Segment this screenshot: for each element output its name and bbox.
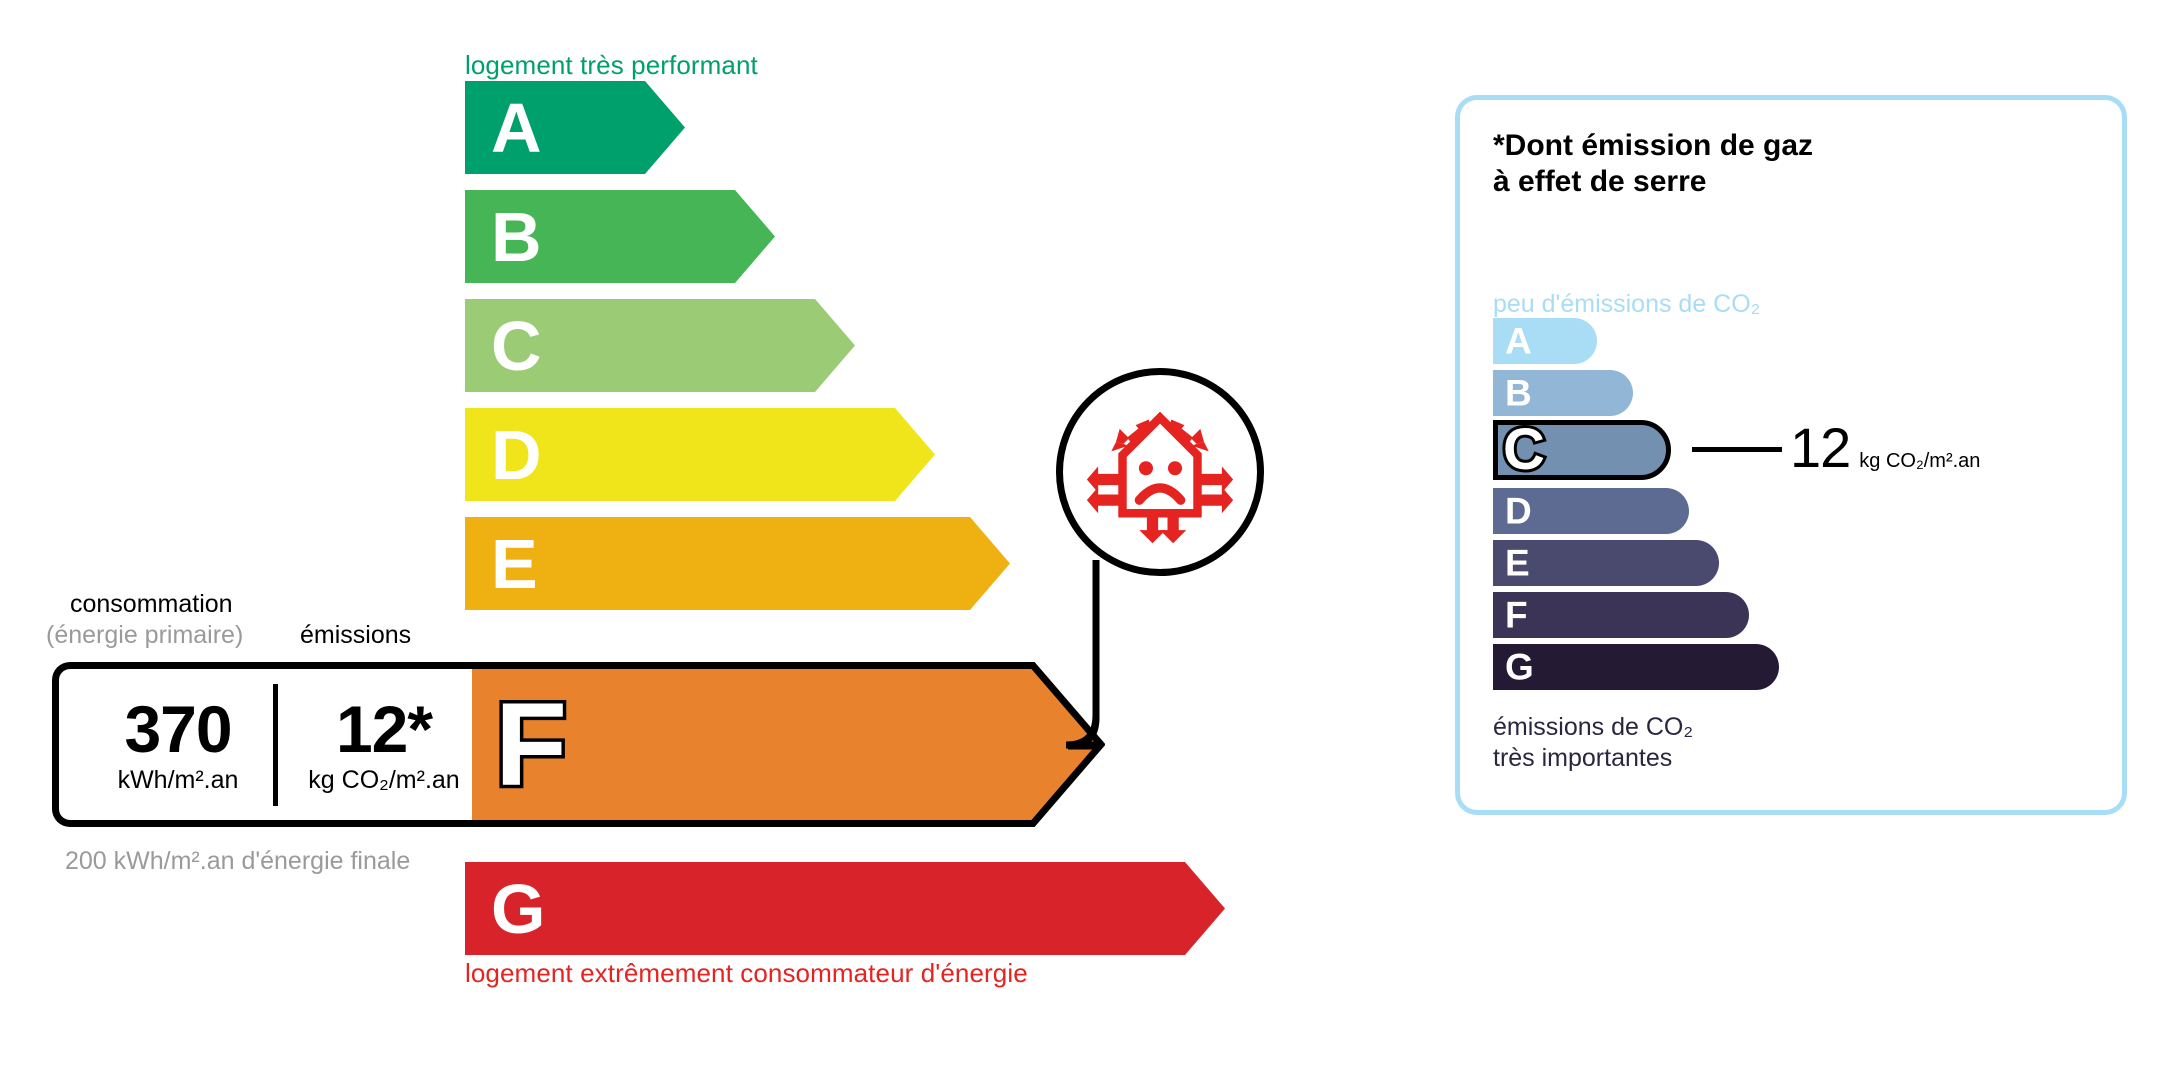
- co2-grade-letter-b: B: [1505, 375, 1532, 412]
- co2-grade-letter-c: C: [1503, 421, 1545, 479]
- co2-grade-letter-a: A: [1505, 323, 1532, 360]
- co2-value-readout: 12 kg CO₂/m².an: [1790, 420, 1980, 476]
- co2-bar-row-d[interactable]: D: [1493, 488, 1689, 534]
- co2-grade-letter-f: F: [1505, 597, 1528, 634]
- co2-bar-row-b[interactable]: B: [1493, 370, 1633, 416]
- energy-value: 370: [124, 696, 231, 762]
- energy-performance-chart: logement très performant A B C D E: [0, 0, 1330, 1079]
- house-heat-loss-sad-icon: [1085, 397, 1235, 547]
- co2-bar-row-a[interactable]: A: [1493, 318, 1597, 364]
- co2-bar-row-e[interactable]: E: [1493, 540, 1719, 586]
- heat-loss-badge: [1056, 368, 1264, 576]
- co2-grade-letter-g: G: [1505, 649, 1534, 686]
- co2-bar-row-g[interactable]: G: [1493, 644, 1779, 690]
- energy-value-cell: 370 kWh/m².an: [69, 669, 287, 820]
- co2-unit: kg CO₂/m².an: [308, 768, 459, 793]
- value-box-divider: [273, 684, 278, 806]
- co2-leader-line: [1692, 447, 1782, 452]
- co2-value: 12*: [336, 696, 432, 762]
- co2-bar-shape-f: [1493, 592, 1749, 638]
- co2-grade-letter-d: D: [1505, 493, 1532, 530]
- co2-bar-row-c-selected[interactable]: C: [1493, 420, 1671, 480]
- co2-bar-row-f[interactable]: F: [1493, 592, 1749, 638]
- co2-panel-title: *Dont émission de gaz à effet de serre: [1493, 128, 1813, 200]
- co2-bottom-caption: émissions de CO₂ très importantes: [1493, 712, 1693, 773]
- energy-unit: kWh/m².an: [118, 768, 239, 793]
- co2-grade-letter-e: E: [1505, 545, 1530, 582]
- greenhouse-gas-panel: *Dont émission de gaz à effet de serre p…: [1455, 95, 2127, 815]
- co2-top-caption: peu d'émissions de CO₂: [1493, 290, 1760, 319]
- co2-value-cell: 12* kg CO₂/m².an: [291, 669, 477, 820]
- co2-bar-shape-g: [1493, 644, 1779, 690]
- co2-panel-value: 12: [1790, 420, 1850, 476]
- value-readout-box: 370 kWh/m².an 12* kg CO₂/m².an: [52, 662, 472, 827]
- co2-panel-unit: kg CO₂/m².an: [1859, 450, 1980, 473]
